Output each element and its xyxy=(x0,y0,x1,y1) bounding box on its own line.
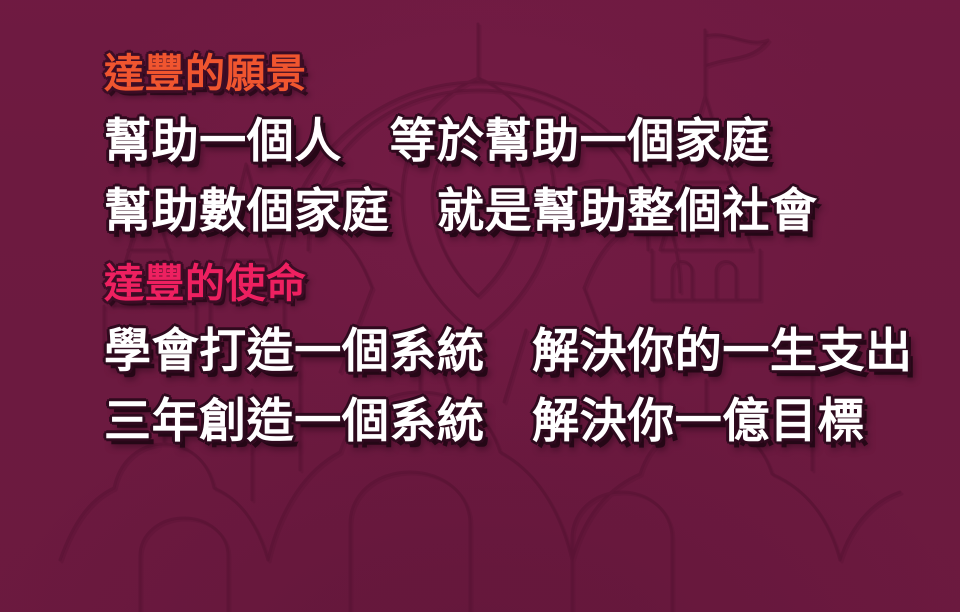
mission-heading: 達豐的使命 xyxy=(104,264,306,304)
vision-heading: 達豐的願景 xyxy=(104,54,306,94)
slide-canvas: 達豐的願景 幫助一個人 等於幫助一個家庭 幫助數個家庭 就是幫助整個社會 達豐的… xyxy=(0,0,960,612)
vision-line-1: 幫助一個人 等於幫助一個家庭 xyxy=(104,118,770,165)
text-content: 達豐的願景 幫助一個人 等於幫助一個家庭 幫助數個家庭 就是幫助整個社會 達豐的… xyxy=(0,0,960,612)
mission-line-1: 學會打造一個系統 解決你的一生支出 xyxy=(104,328,913,375)
vision-line-2: 幫助數個家庭 就是幫助整個社會 xyxy=(104,188,817,235)
mission-line-2: 三年創造一個系統 解決你一億目標 xyxy=(104,398,865,445)
